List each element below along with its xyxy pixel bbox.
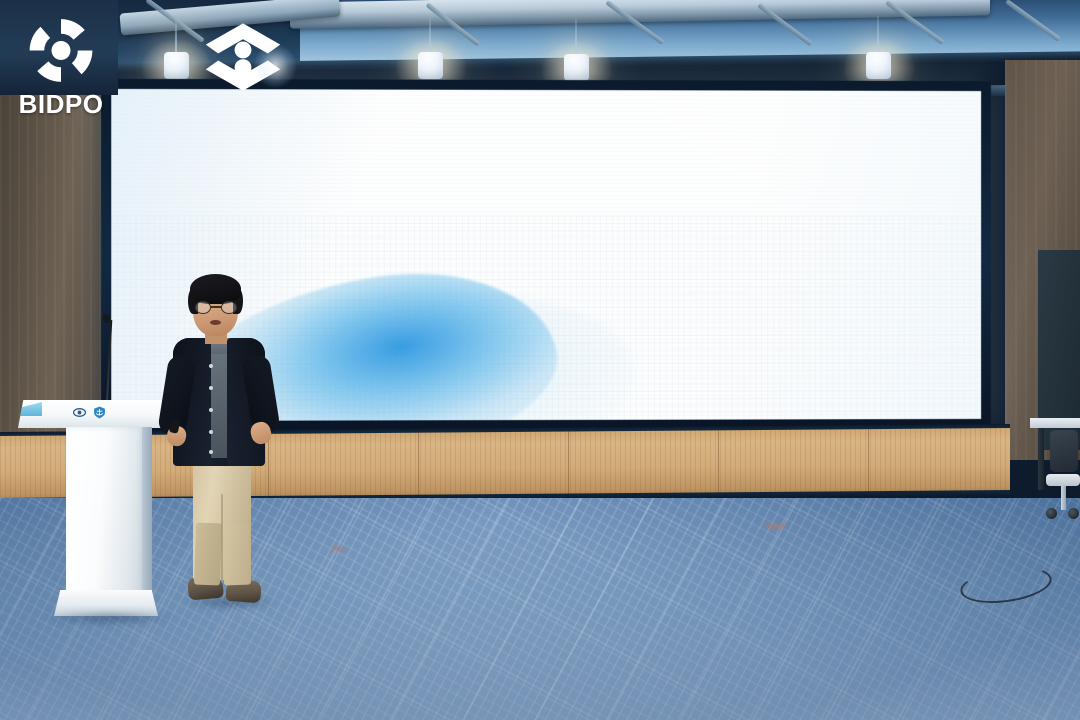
glasses-bridge bbox=[211, 306, 221, 308]
podium-logo-row bbox=[73, 406, 106, 419]
pendant-light-2 bbox=[418, 52, 443, 79]
podium-logo-captions bbox=[70, 419, 126, 424]
chair-wheel bbox=[1068, 508, 1079, 519]
diamond-dots-icon bbox=[198, 18, 288, 96]
chair-seat bbox=[1046, 474, 1080, 486]
speaker bbox=[155, 268, 290, 620]
cardigan-button bbox=[209, 364, 213, 368]
cardigan-button bbox=[209, 430, 213, 434]
pendant-light-3 bbox=[564, 54, 589, 81]
anchor-shield-icon bbox=[93, 406, 106, 419]
cardigan-button bbox=[209, 408, 213, 412]
chair-wheel bbox=[1046, 508, 1057, 519]
glasses-icon bbox=[194, 301, 238, 314]
podium-column-edge bbox=[142, 427, 152, 595]
bidpo-wordmark: BIDPO bbox=[19, 89, 104, 120]
eye-swirl-icon bbox=[73, 406, 86, 419]
wood-seam bbox=[718, 430, 719, 496]
speaker-leg-right bbox=[222, 523, 251, 586]
bidpo-ring-icon bbox=[24, 14, 98, 87]
side-desk bbox=[1030, 418, 1080, 428]
podium-accent-left bbox=[20, 402, 42, 416]
wood-seam bbox=[868, 429, 869, 495]
gooseneck-microphone-icon bbox=[103, 314, 110, 323]
pendant-light-1 bbox=[164, 52, 189, 79]
speaker-trouser-seam bbox=[221, 494, 223, 580]
glasses-lens-right bbox=[221, 301, 237, 314]
side-desk-leg bbox=[1038, 428, 1044, 490]
cardigan-button bbox=[209, 450, 213, 454]
bidpo-logo: BIDPO bbox=[8, 14, 114, 120]
chair-backrest bbox=[1050, 430, 1078, 472]
speaker-hair bbox=[190, 274, 241, 304]
ceiling-pipe-6 bbox=[1005, 0, 1061, 42]
pendant-light-4 bbox=[866, 52, 891, 79]
wood-seam bbox=[568, 431, 569, 497]
chair-post bbox=[1061, 486, 1066, 510]
cardigan-button bbox=[209, 386, 213, 390]
presentation-photo: 2025年智能体体验设计白皮书 联想集团首席设计师&体验设计总监 杨润 bbox=[0, 0, 1080, 720]
speaker-leg-left bbox=[194, 523, 222, 586]
speaker-mouth bbox=[210, 320, 221, 325]
glasses-lens-left bbox=[195, 301, 211, 314]
wood-seam bbox=[418, 433, 419, 499]
office-chair bbox=[1046, 430, 1080, 526]
podium-column bbox=[66, 427, 144, 595]
